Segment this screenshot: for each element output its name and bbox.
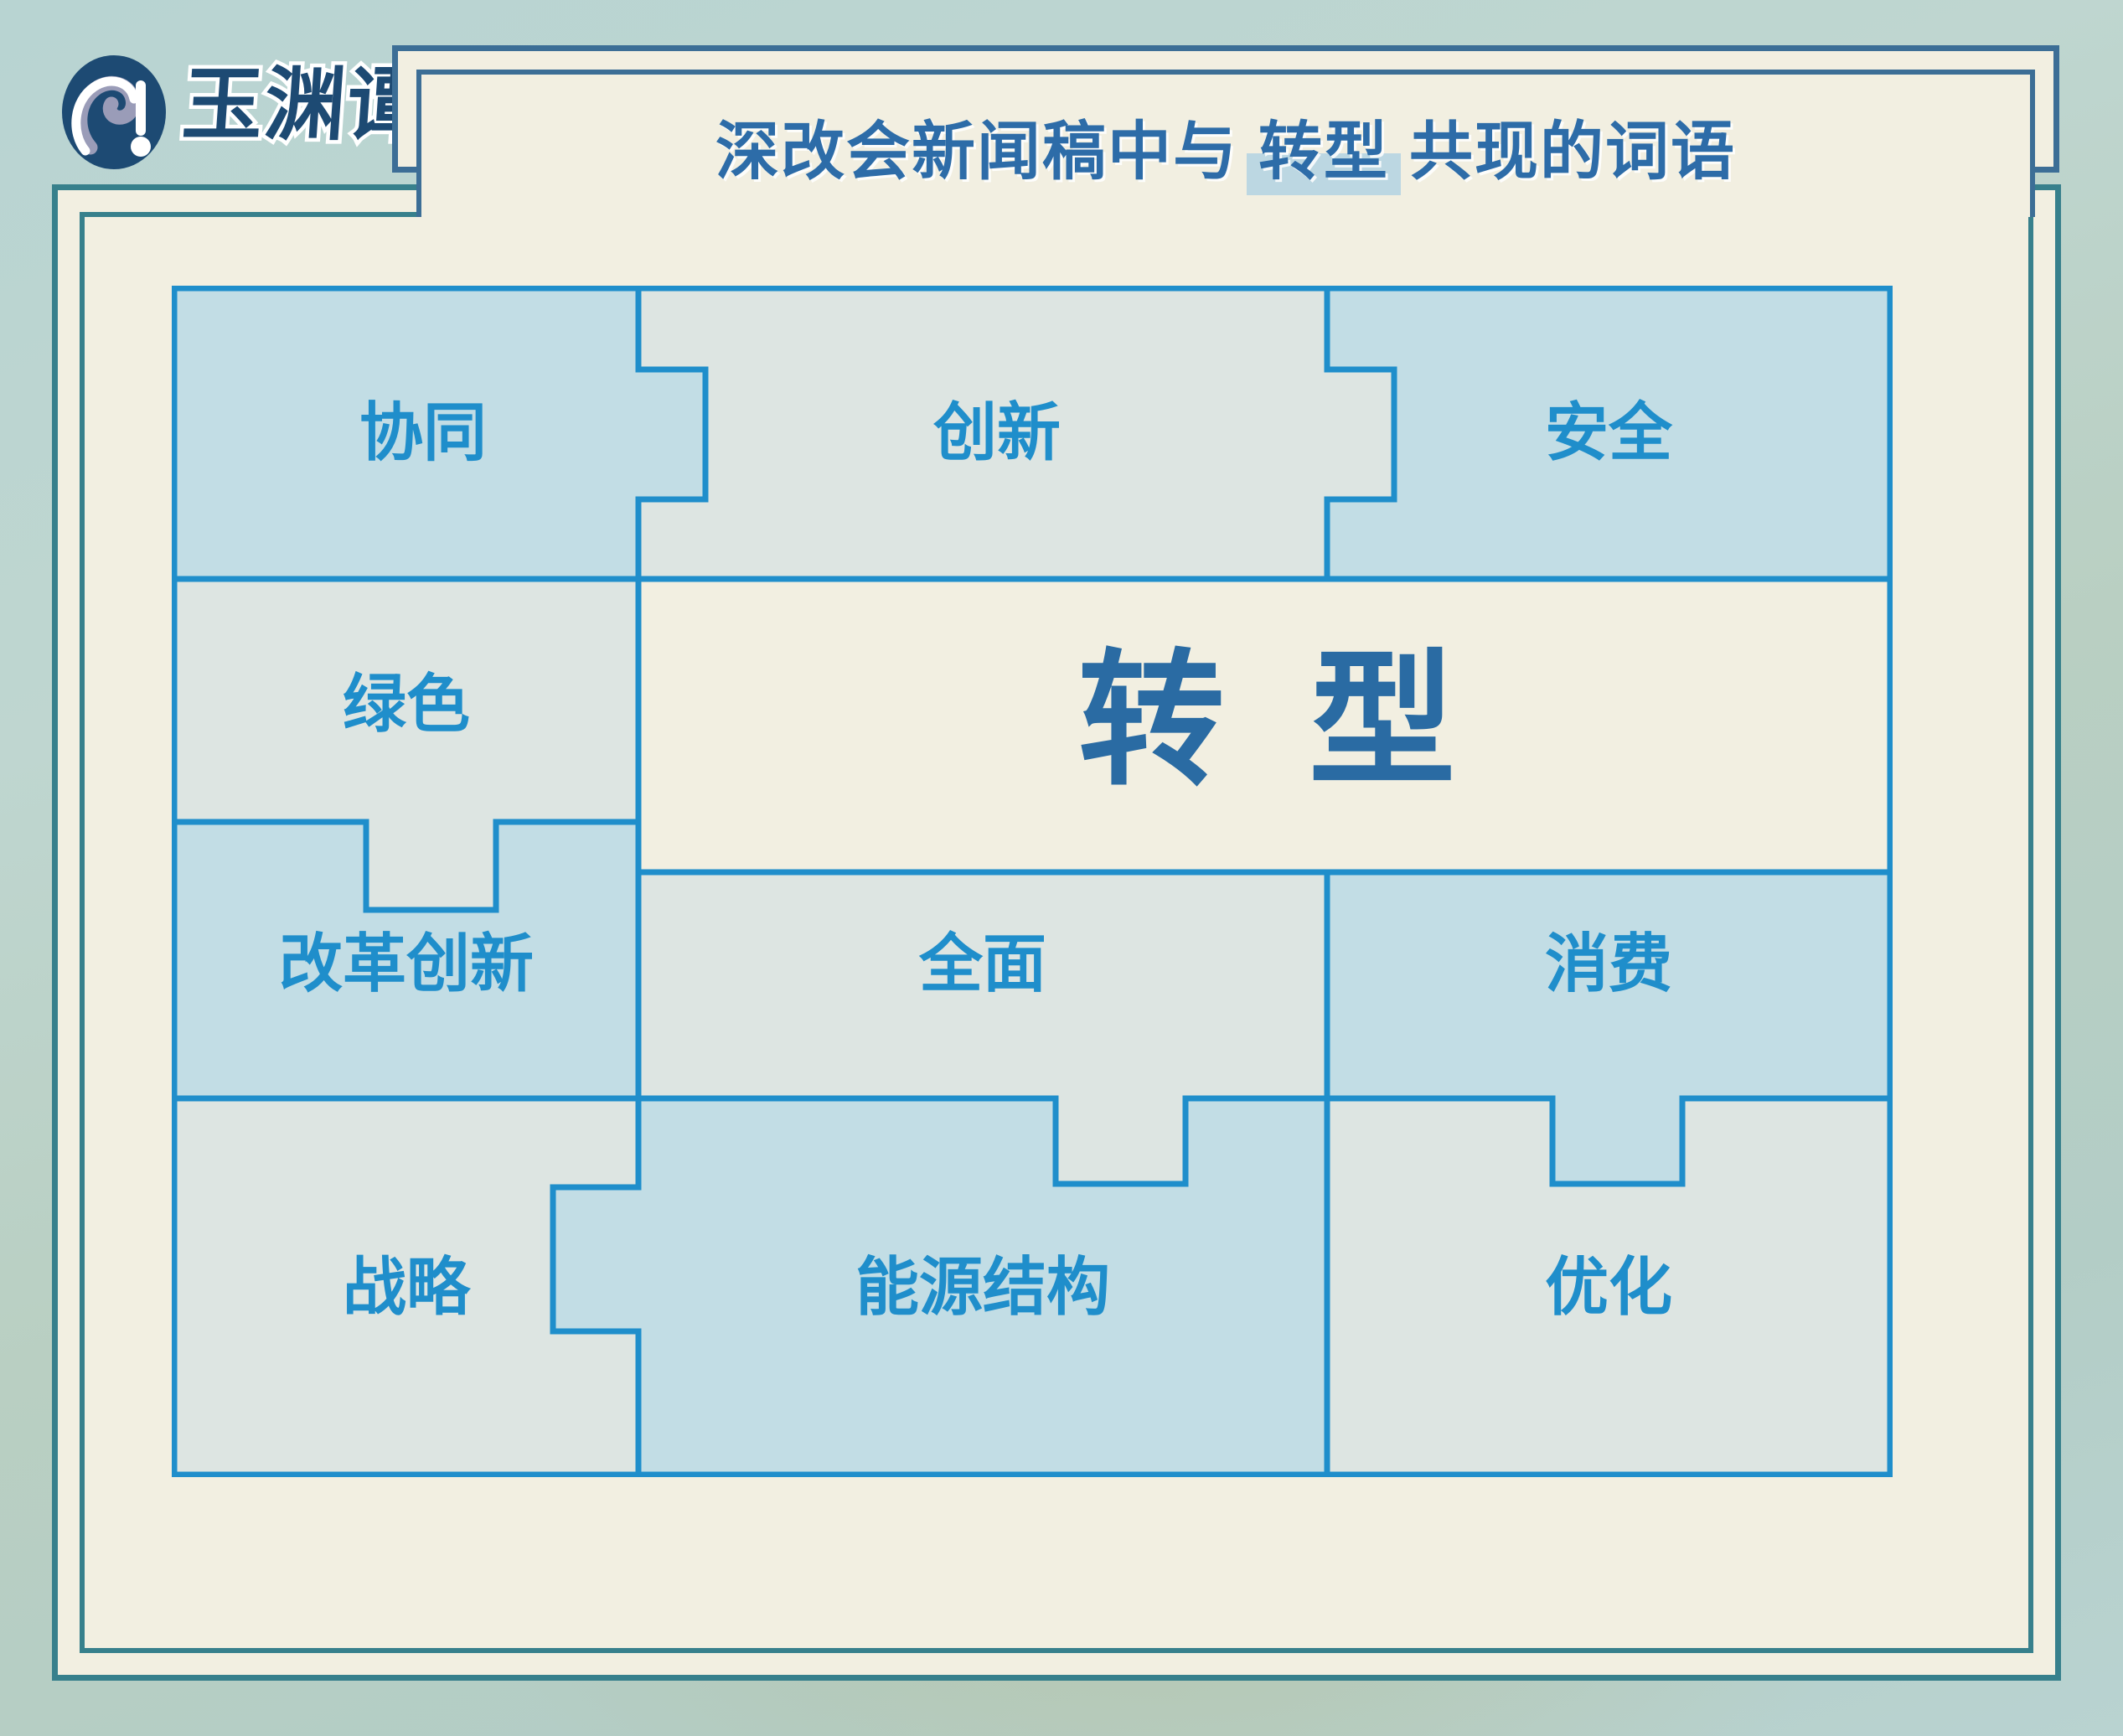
cell-label-xiaofei: 消费 — [1545, 929, 1672, 1000]
cell-label-zhuanxing: 转 型 — [1078, 640, 1478, 803]
cell-label-gaigechuangxin: 改革创新 — [279, 929, 534, 1000]
title-suffix: 共现的词语 — [1409, 100, 1736, 192]
title-highlight-text: 转型 — [1258, 116, 1389, 188]
cell-label-youhua: 优化 — [1545, 1253, 1672, 1324]
brand-logo: 玉渊谭天 — [55, 49, 390, 174]
title-banner: 深改会新闻稿中与 转型 共现的词语 — [392, 45, 2059, 173]
cell-label-quanmian: 全面 — [918, 929, 1046, 1000]
main-frame-inner: 协同 创新 安全 绿色 转 型 改革创新 全面 消费 战略 能源结构 优化 — [80, 212, 2033, 1653]
word-cooccurrence-puzzle: 协同 创新 安全 绿色 转 型 改革创新 全面 消费 战略 能源结构 优化 — [172, 286, 1893, 1477]
main-frame: 协同 创新 安全 绿色 转 型 改革创新 全面 消费 战略 能源结构 优化 — [52, 184, 2061, 1681]
cell-label-lvse: 绿色 — [343, 669, 470, 741]
yuyuantantian-emblem-icon — [55, 54, 173, 171]
title-prefix: 深改会新闻稿中与 — [715, 100, 1238, 192]
cell-label-zhanlue: 战略 — [343, 1253, 472, 1324]
cell-label-chuangxin: 创新 — [933, 398, 1061, 469]
page-title: 深改会新闻稿中与 转型 共现的词语 — [421, 75, 2030, 217]
cell-label-anquan: 安全 — [1545, 398, 1673, 469]
cell-label-nengyuanjiegou: 能源结构 — [855, 1253, 1110, 1324]
title-banner-inner: 深改会新闻稿中与 转型 共现的词语 — [416, 70, 2035, 217]
cell-label-xietong: 协同 — [359, 398, 487, 469]
title-highlight: 转型 — [1247, 100, 1401, 192]
